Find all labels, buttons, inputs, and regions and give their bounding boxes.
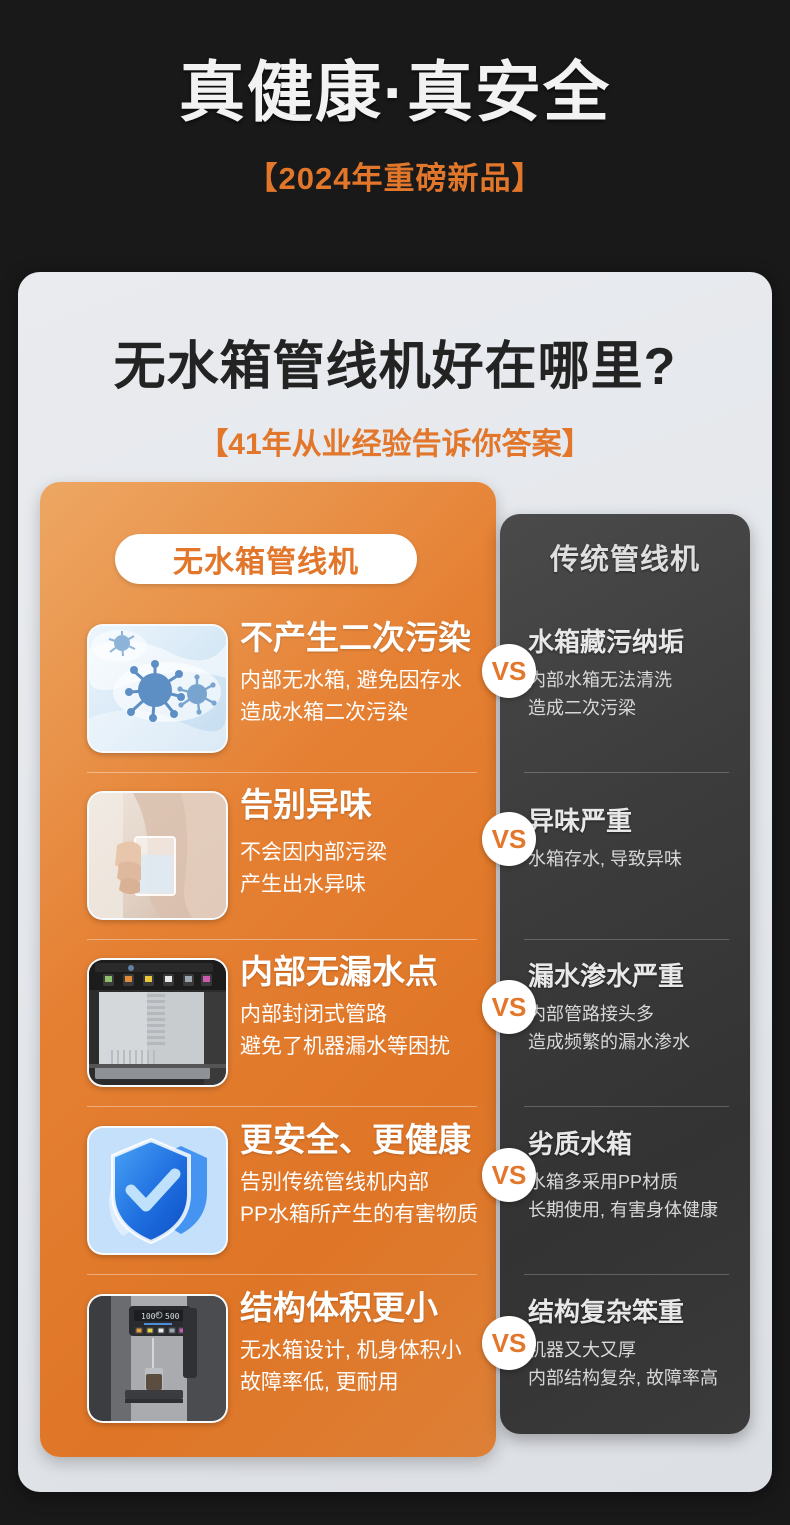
row-4-left-desc-2: PP水箱所产生的有害物质 <box>240 1200 490 1230</box>
row-4-right-text: 劣质水箱 水箱多采用PP材质 长期使用, 有害身体健康 <box>528 1130 753 1223</box>
vs-badge-5: VS <box>482 1316 536 1370</box>
vs-label-3: VS <box>492 992 527 1023</box>
comparison-card: 无水箱管线机好在哪里? 【41年从业经验告诉你答案】 无水箱管线机 传统管线机 <box>18 272 772 1492</box>
thumbnail-hand-water-glass <box>87 791 228 920</box>
comparison-area: 无水箱管线机 传统管线机 <box>18 482 772 1472</box>
row-3-left-desc-1: 内部封闭式管路 <box>240 1000 490 1030</box>
vs-badge-3: VS <box>482 980 536 1034</box>
right-column-label: 传统管线机 <box>500 536 750 578</box>
row-left-1: 不产生二次污染 内部无水箱, 避免因存水 造成水箱二次污染 <box>40 610 496 775</box>
row-1-left-divider <box>87 772 477 773</box>
thumbnail-virus-microbe <box>87 624 228 753</box>
row-4-right-title: 劣质水箱 <box>528 1130 753 1160</box>
row-2-left-desc-2: 产生出水异味 <box>240 870 490 900</box>
row-1-left-title: 不产生二次污染 <box>240 620 490 657</box>
row-right-2: 异味严重 水箱存水, 导致异味 <box>500 777 750 942</box>
header-subtitle: 【2024年重磅新品】 <box>0 153 790 198</box>
row-left-3: 内部无漏水点 内部封闭式管路 避免了机器漏水等困扰 <box>40 944 496 1109</box>
row-1-right-text: 水箱藏污纳垢 内部水箱无法清洗 造成二次污梁 <box>528 628 753 721</box>
vs-label-1: VS <box>492 656 527 687</box>
row-2-left-divider <box>87 939 477 940</box>
row-1-right-divider <box>524 772 729 773</box>
row-4-left-desc-1: 告别传统管线机内部 <box>240 1168 490 1198</box>
row-1-right-title: 水箱藏污纳垢 <box>528 628 753 658</box>
row-3-right-desc-2: 造成频繁的漏水渗水 <box>528 1029 753 1055</box>
row-2-right-divider <box>524 939 729 940</box>
row-4-left-title: 更安全、更健康 <box>240 1122 490 1159</box>
row-1-left-text: 不产生二次污染 内部无水箱, 避免因存水 造成水箱二次污染 <box>240 620 490 728</box>
vs-badge-2: VS <box>482 812 536 866</box>
row-5-right-desc-1: 机器又大又厚 <box>528 1337 753 1363</box>
row-4-left-divider <box>87 1274 477 1275</box>
page-title: 无水箱管线机好在哪里? <box>18 324 772 399</box>
row-3-left-title: 内部无漏水点 <box>240 954 490 991</box>
page-header: 真健康·真安全 【2024年重磅新品】 <box>0 0 790 198</box>
svg-text:100°: 100° <box>141 1312 160 1321</box>
row-right-3: 漏水渗水严重 内部管路接头多 造成频繁的漏水渗水 <box>500 944 750 1109</box>
row-3-left-text: 内部无漏水点 内部封闭式管路 避免了机器漏水等困扰 <box>240 954 490 1062</box>
row-2-right-text: 异味严重 水箱存水, 导致异味 <box>528 807 753 872</box>
row-4-left-text: 更安全、更健康 告别传统管线机内部 PP水箱所产生的有害物质 <box>240 1122 490 1230</box>
row-2-right-desc-1: 水箱存水, 导致异味 <box>528 846 753 872</box>
row-left-4: 更安全、更健康 告别传统管线机内部 PP水箱所产生的有害物质 <box>40 1112 496 1277</box>
row-2-left-title: 告别异味 <box>240 787 490 824</box>
row-2-right-title: 异味严重 <box>528 807 753 837</box>
row-5-right-desc-2: 内部结构复杂, 故障率高 <box>528 1365 753 1391</box>
row-4-right-desc-1: 水箱多采用PP材质 <box>528 1169 753 1195</box>
row-3-left-divider <box>87 1106 477 1107</box>
row-1-left-desc-2: 造成水箱二次污染 <box>240 698 490 728</box>
row-5-left-desc-2: 故障率低, 更耐用 <box>240 1368 490 1398</box>
vs-label-5: VS <box>492 1328 527 1359</box>
row-4-right-desc-2: 长期使用, 有害身体健康 <box>528 1197 753 1223</box>
row-5-right-text: 结构复杂笨重 机器又大又厚 内部结构复杂, 故障率高 <box>528 1298 753 1391</box>
row-right-5: 结构复杂笨重 机器又大又厚 内部结构复杂, 故障率高 <box>500 1280 750 1445</box>
row-4-right-divider <box>524 1274 729 1275</box>
row-5-right-title: 结构复杂笨重 <box>528 1298 753 1328</box>
vs-label-2: VS <box>492 824 527 855</box>
row-2-left-text: 告别异味 不会因内部污梁 产生出水异味 <box>240 787 490 900</box>
row-1-right-desc-2: 造成二次污梁 <box>528 695 753 721</box>
row-3-right-text: 漏水渗水严重 内部管路接头多 造成频繁的漏水渗水 <box>528 962 753 1055</box>
row-1-left-desc-1: 内部无水箱, 避免因存水 <box>240 666 490 696</box>
row-right-1: 水箱藏污纳垢 内部水箱无法清洗 造成二次污梁 <box>500 610 750 775</box>
row-2-left-desc-1: 不会因内部污梁 <box>240 838 490 868</box>
left-column-label: 无水箱管线机 <box>173 537 359 581</box>
row-left-5: 100° 500 <box>40 1280 496 1445</box>
vs-label-4: VS <box>492 1160 527 1191</box>
row-1-right-desc-1: 内部水箱无法清洗 <box>528 667 753 693</box>
row-3-left-desc-2: 避免了机器漏水等困扰 <box>240 1032 490 1062</box>
row-3-right-divider <box>524 1106 729 1107</box>
thumbnail-blue-shield <box>87 1126 228 1255</box>
row-5-left-desc-1: 无水箱设计, 机身体积小 <box>240 1336 490 1366</box>
left-column-header: 无水箱管线机 <box>115 534 417 584</box>
page-subtitle: 【41年从业经验告诉你答案】 <box>18 419 772 463</box>
header-title: 真健康·真安全 <box>0 58 790 127</box>
row-5-left-title: 结构体积更小 <box>240 1290 490 1327</box>
thumbnail-machine-internal <box>87 958 228 1087</box>
svg-text:500: 500 <box>165 1312 180 1321</box>
vs-badge-1: VS <box>482 644 536 698</box>
row-5-left-text: 结构体积更小 无水箱设计, 机身体积小 故障率低, 更耐用 <box>240 1290 490 1398</box>
row-left-2: 告别异味 不会因内部污梁 产生出水异味 <box>40 777 496 942</box>
row-3-right-desc-1: 内部管路接头多 <box>528 1001 753 1027</box>
row-3-right-title: 漏水渗水严重 <box>528 962 753 992</box>
thumbnail-dispenser-pouring: 100° 500 <box>87 1294 228 1423</box>
row-right-4: 劣质水箱 水箱多采用PP材质 长期使用, 有害身体健康 <box>500 1112 750 1277</box>
vs-badge-4: VS <box>482 1148 536 1202</box>
